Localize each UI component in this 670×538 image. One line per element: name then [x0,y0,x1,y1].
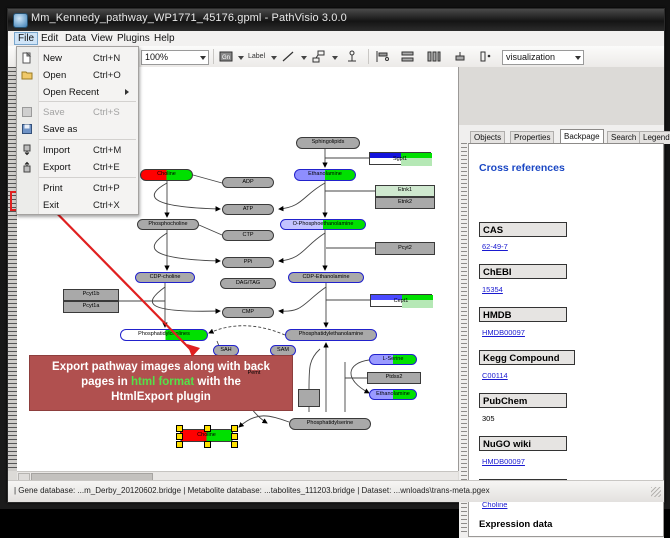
xref-value-kegg[interactable]: C00114 [482,371,508,380]
save-as-icon [21,123,33,135]
menu-item-exit-shortcut: Ctrl+X [93,200,120,211]
submenu-arrow-icon [125,89,129,95]
datanode-dropdown-icon[interactable] [238,56,244,60]
open-folder-icon [21,69,33,81]
status-text: | Gene database: ...m_Derby_20120602.bri… [14,486,490,495]
status-bar: | Gene database: ...m_Derby_20120602.bri… [8,480,664,502]
expression-data-title: Expression data [479,519,552,530]
menu-item-save: Save Ctrl+S [17,104,138,120]
xref-value-chebi[interactable]: 15354 [482,285,503,294]
menu-item-save-as-label: Save as [43,124,77,135]
menu-divider-2 [39,139,136,140]
menu-divider-1 [39,101,136,102]
menu-item-export-shortcut: Ctrl+E [93,162,120,173]
xref-header-kegg: Kegg Compound [479,350,575,365]
resize-grip-icon[interactable] [651,487,661,497]
line-icon[interactable] [280,49,296,64]
visualization-value: visualization [506,52,555,62]
menu-item-new[interactable]: New Ctrl+N [17,50,138,66]
title-bar: Mm_Kennedy_pathway_WP1771_45176.gpml - P… [8,9,664,32]
menu-item-open-shortcut: Ctrl+O [93,70,121,81]
zoom-combobox[interactable]: 100% [141,50,209,65]
xref-value-cas[interactable]: 62-49-7 [482,242,508,251]
menu-divider-3 [39,177,136,178]
chevron-down-icon-2 [575,56,581,60]
xref-value-pubchem: 305 [482,414,495,423]
menu-item-print-shortcut: Ctrl+P [93,183,120,194]
menu-data[interactable]: Data [61,32,90,45]
group-icon[interactable] [452,49,468,64]
xref-header-cas: CAS [479,222,567,237]
menu-item-print[interactable]: Print Ctrl+P [17,180,138,196]
xref-value-hmdb[interactable]: HMDB00097 [482,328,525,337]
import-icon [21,144,33,156]
menu-help[interactable]: Help [150,32,179,45]
label-dropdown-icon[interactable] [271,56,277,60]
menu-item-open-recent-label: Open Recent [43,87,99,98]
save-disk-icon [21,106,33,118]
menu-item-export[interactable]: Export Ctrl+E [17,159,138,175]
xref-header-hmdb: HMDB [479,307,567,322]
cross-references-title: Cross references [479,162,565,174]
xref-header-nugo: NuGO wiki [479,436,567,451]
label-tool-label[interactable]: Label [248,53,265,60]
xref-header-chebi: ChEBI [479,264,567,279]
zoom-value: 100% [145,52,168,62]
menu-item-import-shortcut: Ctrl+M [93,145,121,156]
menu-item-import[interactable]: Import Ctrl+M [17,142,138,158]
menu-item-exit[interactable]: Exit Ctrl+X [17,197,138,213]
menu-item-import-label: Import [43,145,70,156]
menu-item-save-shortcut: Ctrl+S [93,107,120,118]
datanode-icon[interactable]: Gn [218,49,234,64]
menu-item-save-as[interactable]: Save as [17,121,138,137]
pathvisio-icon [13,13,28,28]
align-left-icon[interactable] [374,49,390,64]
xref-value-nugo[interactable]: HMDB00097 [482,457,525,466]
export-icon [21,161,33,173]
order-icon[interactable] [478,49,494,64]
menu-plugins[interactable]: Plugins [113,32,154,45]
interaction-icon[interactable] [311,49,327,64]
menu-item-save-label: Save [43,107,65,118]
menu-item-exit-label: Exit [43,200,59,211]
window-title: Mm_Kennedy_pathway_WP1771_45176.gpml - P… [31,12,347,24]
toolbar-separator [213,49,214,64]
toolbar-separator-2 [368,49,369,64]
panel-drag-handle[interactable] [461,143,467,535]
distribute-icon[interactable] [426,49,442,64]
file-menu-dropdown: New Ctrl+N Open Ctrl+O Open Recent Save … [16,46,139,215]
backpage-content: Cross references CAS 62-49-7 ChEBI 15354… [468,143,664,537]
visualization-combobox[interactable]: visualization [502,50,584,65]
interaction-dropdown-icon[interactable] [332,56,338,60]
chevron-down-icon [200,56,206,60]
anchor-icon[interactable] [344,49,360,64]
menu-file[interactable]: File [14,32,38,45]
pathvisio-window: Mm_Kennedy_pathway_WP1771_45176.gpml - P… [7,8,665,503]
tab-backpage[interactable]: Backpage [560,129,604,144]
menu-bar: File Edit Data View Plugins Help [8,31,664,47]
menu-item-open[interactable]: Open Ctrl+O [17,67,138,83]
menu-item-new-shortcut: Ctrl+N [93,53,120,64]
align-stack-icon[interactable] [400,49,416,64]
xref-header-pubchem: PubChem [479,393,567,408]
menu-item-open-recent[interactable]: Open Recent [17,84,138,100]
side-panel: Objects Properties Backpage Search Legen… [459,125,664,538]
new-document-icon [21,52,33,64]
menu-item-open-label: Open [43,70,66,81]
menu-item-export-label: Export [43,162,70,173]
menu-edit[interactable]: Edit [37,32,62,45]
line-dropdown-icon[interactable] [301,56,307,60]
menu-item-print-label: Print [43,183,63,194]
menu-item-new-label: New [43,53,62,64]
svg-text:Gn: Gn [222,55,230,61]
screenshot-frame: Mm_Kennedy_pathway_WP1771_45176.gpml - P… [0,0,670,509]
panel-tabstrip: Objects Properties Backpage Search Legen… [462,129,662,143]
